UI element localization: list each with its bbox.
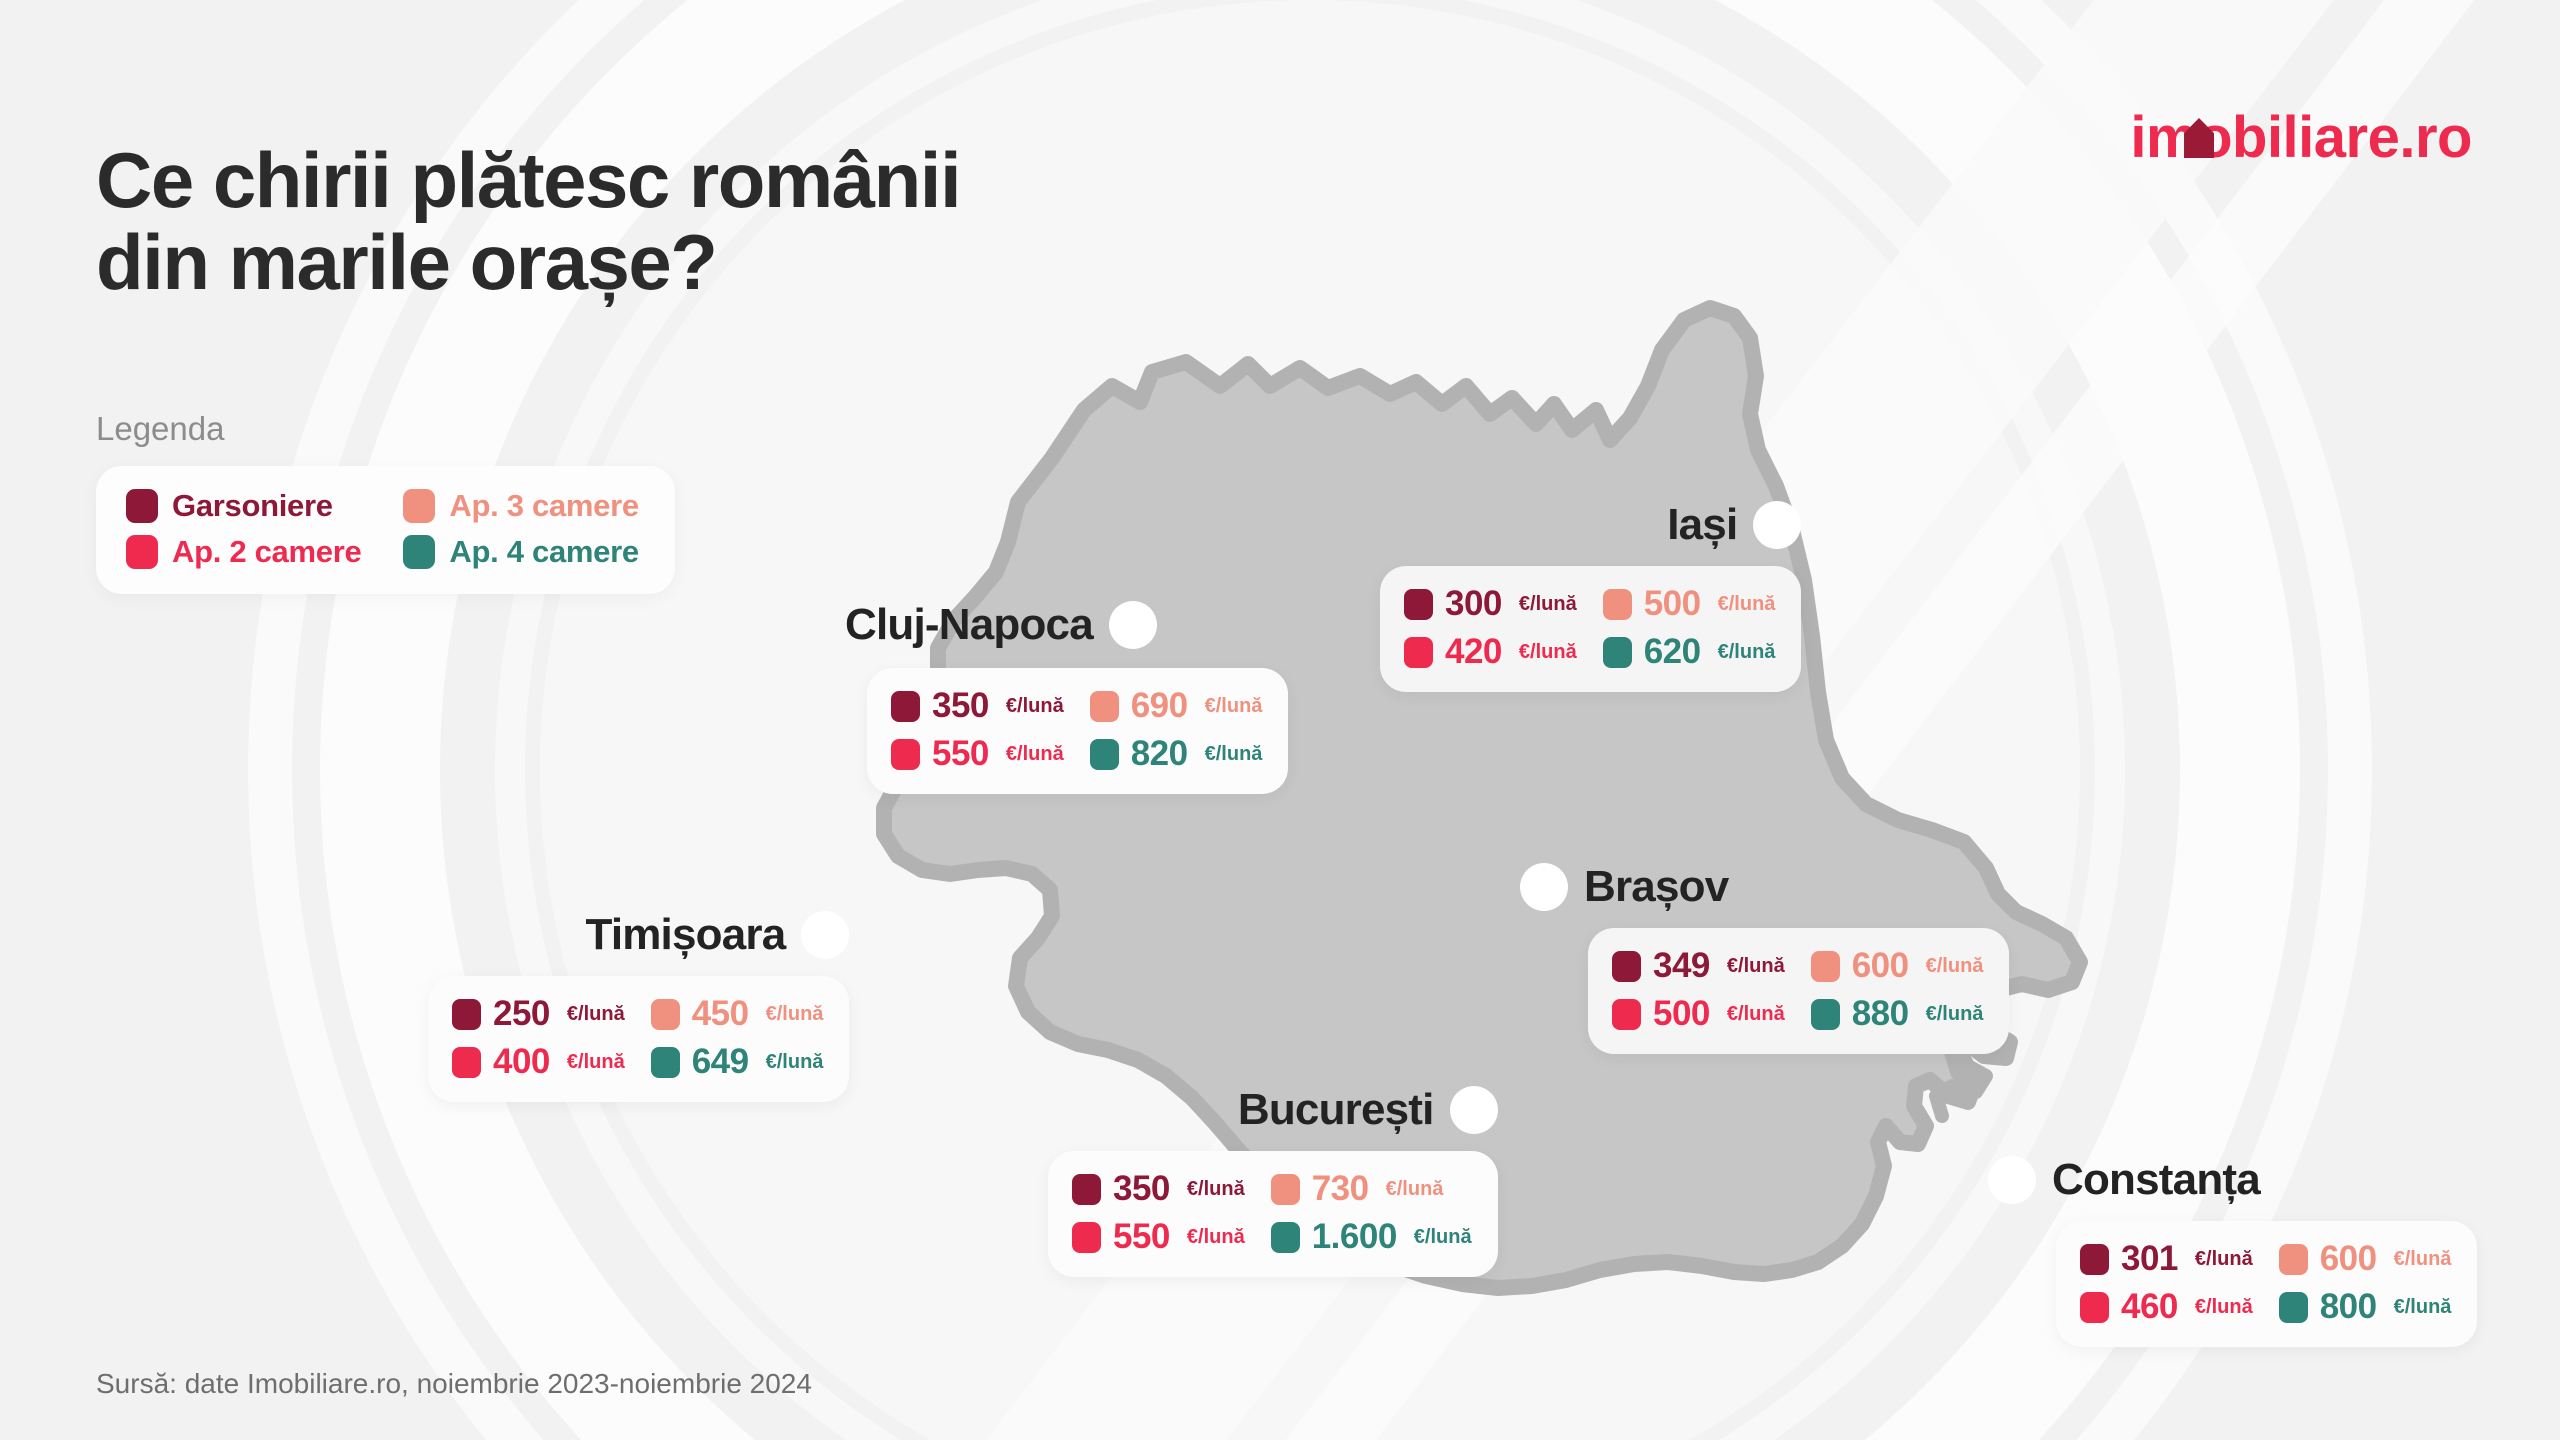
city-name-label: Timișoara: [586, 910, 786, 960]
price-unit: €/lună: [1926, 955, 1984, 978]
price-item-ap-4-camere: 1.600 €/lună: [1271, 1217, 1472, 1257]
price-swatch-icon: [651, 1047, 680, 1078]
price-unit: €/lună: [1718, 641, 1776, 664]
price-item-ap-2-camere: 500 €/lună: [1612, 994, 1785, 1034]
imobiliare-logo[interactable]: imobiliare.ro: [2130, 104, 2472, 171]
price-card: 349 €/lună 600 €/lună 500 €/lună 880 €/l…: [1588, 928, 2009, 1054]
city-header: Cluj-Napoca: [845, 600, 1288, 650]
price-unit: €/lună: [1727, 1003, 1785, 1026]
price-grid: 300 €/lună 500 €/lună 420 €/lună 620 €/l…: [1404, 584, 1775, 672]
city-marker-dot-icon[interactable]: [1753, 501, 1801, 549]
price-swatch-icon: [1811, 951, 1840, 982]
price-item-garsoniere: 349 €/lună: [1612, 946, 1785, 986]
price-item-ap-4-camere: 649 €/lună: [651, 1042, 824, 1082]
price-unit: €/lună: [766, 1003, 824, 1026]
city-marker-dot-icon[interactable]: [1988, 1156, 2036, 1204]
price-swatch-icon: [1811, 999, 1840, 1030]
price-value: 649: [692, 1042, 749, 1082]
price-unit: €/lună: [1205, 743, 1263, 766]
price-value: 600: [2320, 1239, 2377, 1279]
price-value: 349: [1653, 946, 1710, 986]
legend-item-ap-3-camere[interactable]: Ap. 3 camere: [403, 488, 638, 524]
price-value: 450: [692, 994, 749, 1034]
price-grid: 349 €/lună 600 €/lună 500 €/lună 880 €/l…: [1612, 946, 1983, 1034]
price-value: 620: [1644, 632, 1701, 672]
price-value: 350: [932, 686, 989, 726]
page-title: Ce chirii plătesc românii din marile ora…: [96, 140, 960, 304]
city-name-label: Constanța: [2052, 1155, 2260, 1205]
price-value: 400: [493, 1042, 550, 1082]
city-group-brasov[interactable]: Brașov 349 €/lună 600 €/lună 500 €/lună …: [1520, 862, 2009, 1054]
price-grid: 250 €/lună 450 €/lună 400 €/lună 649 €/l…: [452, 994, 823, 1082]
price-value: 500: [1653, 994, 1710, 1034]
price-swatch-icon: [1603, 589, 1632, 620]
price-unit: €/lună: [1414, 1226, 1472, 1249]
price-value: 690: [1131, 686, 1188, 726]
price-swatch-icon: [1404, 589, 1433, 620]
legend-item-label: Garsoniere: [172, 488, 333, 524]
price-swatch-icon: [1090, 691, 1119, 722]
city-group-iasi[interactable]: Iași 300 €/lună 500 €/lună 420 €/lună 62…: [1660, 500, 1801, 692]
price-item-ap-4-camere: 880 €/lună: [1811, 994, 1984, 1034]
legend-item-garsoniere[interactable]: Garsoniere: [126, 488, 361, 524]
price-swatch-icon: [2279, 1292, 2308, 1323]
price-swatch-icon: [1072, 1174, 1101, 1205]
price-value: 420: [1445, 632, 1502, 672]
price-swatch-icon: [452, 999, 481, 1030]
price-swatch-icon: [1072, 1222, 1101, 1253]
legend-swatch-icon: [126, 489, 158, 523]
price-unit: €/lună: [1187, 1226, 1245, 1249]
price-item-ap-3-camere: 450 €/lună: [651, 994, 824, 1034]
price-value: 600: [1852, 946, 1909, 986]
price-value: 300: [1445, 584, 1502, 624]
legend-title: Legenda: [96, 410, 675, 448]
price-swatch-icon: [1612, 951, 1641, 982]
city-marker-dot-icon[interactable]: [1109, 601, 1157, 649]
price-value: 880: [1852, 994, 1909, 1034]
price-value: 460: [2121, 1287, 2178, 1327]
price-item-ap-2-camere: 400 €/lună: [452, 1042, 625, 1082]
price-item-ap-4-camere: 800 €/lună: [2279, 1287, 2452, 1327]
price-swatch-icon: [2279, 1244, 2308, 1275]
city-name-label: Brașov: [1584, 862, 1728, 912]
city-name-label: București: [1238, 1085, 1434, 1135]
price-swatch-icon: [1404, 637, 1433, 668]
price-unit: €/lună: [1006, 743, 1064, 766]
city-marker-dot-icon[interactable]: [1520, 863, 1568, 911]
price-swatch-icon: [1271, 1174, 1300, 1205]
price-value: 550: [1113, 1217, 1170, 1257]
price-card: 350 €/lună 730 €/lună 550 €/lună 1.600 €…: [1048, 1151, 1498, 1277]
legend-swatch-icon: [126, 535, 158, 569]
price-item-garsoniere: 350 €/lună: [1072, 1169, 1245, 1209]
price-unit: €/lună: [1727, 955, 1785, 978]
price-unit: €/lună: [2195, 1248, 2253, 1271]
price-card: 350 €/lună 690 €/lună 550 €/lună 820 €/l…: [867, 668, 1288, 794]
city-name-label: Cluj-Napoca: [845, 600, 1093, 650]
city-header: Timișoara: [548, 910, 849, 960]
price-swatch-icon: [2080, 1244, 2109, 1275]
city-header: București: [1228, 1085, 1498, 1135]
price-card: 301 €/lună 600 €/lună 460 €/lună 800 €/l…: [2056, 1221, 2477, 1347]
price-value: 730: [1312, 1169, 1369, 1209]
legend-grid: Garsoniere Ap. 3 camere Ap. 2 camere Ap.…: [126, 488, 639, 570]
price-item-ap-3-camere: 600 €/lună: [1811, 946, 1984, 986]
legend-item-ap-4-camere[interactable]: Ap. 4 camere: [403, 534, 638, 570]
price-value: 550: [932, 734, 989, 774]
city-group-bucuresti[interactable]: București 350 €/lună 730 €/lună 550 €/lu…: [1228, 1085, 1498, 1277]
price-unit: €/lună: [1205, 695, 1263, 718]
price-unit: €/lună: [2394, 1248, 2452, 1271]
legend-item-label: Ap. 4 camere: [449, 534, 638, 570]
price-item-garsoniere: 250 €/lună: [452, 994, 625, 1034]
price-item-ap-4-camere: 620 €/lună: [1603, 632, 1776, 672]
city-header: Brașov: [1520, 862, 2009, 912]
price-value: 800: [2320, 1287, 2377, 1327]
price-item-ap-3-camere: 690 €/lună: [1090, 686, 1263, 726]
price-unit: €/lună: [567, 1003, 625, 1026]
legend-item-label: Ap. 3 camere: [449, 488, 638, 524]
price-grid: 350 €/lună 690 €/lună 550 €/lună 820 €/l…: [891, 686, 1262, 774]
price-swatch-icon: [891, 739, 920, 770]
price-unit: €/lună: [1519, 641, 1577, 664]
city-header: Iași: [1660, 500, 1801, 550]
price-item-ap-2-camere: 550 €/lună: [1072, 1217, 1245, 1257]
price-unit: €/lună: [2394, 1296, 2452, 1319]
price-unit: €/lună: [1718, 593, 1776, 616]
price-grid: 350 €/lună 730 €/lună 550 €/lună 1.600 €…: [1072, 1169, 1472, 1257]
price-value: 301: [2121, 1239, 2178, 1279]
legend: Legenda Garsoniere Ap. 3 camere Ap. 2 ca…: [96, 410, 675, 594]
city-group-cluj-napoca[interactable]: Cluj-Napoca 350 €/lună 690 €/lună 550 €/…: [845, 600, 1288, 794]
price-swatch-icon: [891, 691, 920, 722]
price-swatch-icon: [452, 1047, 481, 1078]
price-item-ap-2-camere: 460 €/lună: [2080, 1287, 2253, 1327]
price-card: 250 €/lună 450 €/lună 400 €/lună 649 €/l…: [428, 976, 849, 1102]
source-note: Sursă: date Imobiliare.ro, noiembrie 202…: [96, 1368, 812, 1400]
price-item-garsoniere: 300 €/lună: [1404, 584, 1577, 624]
logo-text-prefix: i: [2130, 104, 2146, 171]
price-value: 1.600: [1312, 1217, 1397, 1257]
city-marker-dot-icon[interactable]: [801, 911, 849, 959]
city-group-timisoara[interactable]: Timișoara 250 €/lună 450 €/lună 400 €/lu…: [548, 910, 849, 1102]
price-value: 820: [1131, 734, 1188, 774]
legend-item-ap-2-camere[interactable]: Ap. 2 camere: [126, 534, 361, 570]
price-unit: €/lună: [1926, 1003, 1984, 1026]
legend-item-label: Ap. 2 camere: [172, 534, 361, 570]
price-swatch-icon: [1612, 999, 1641, 1030]
price-swatch-icon: [1090, 739, 1119, 770]
legend-card: Garsoniere Ap. 3 camere Ap. 2 camere Ap.…: [96, 466, 675, 594]
price-unit: €/lună: [567, 1051, 625, 1074]
price-value: 350: [1113, 1169, 1170, 1209]
price-value: 250: [493, 994, 550, 1034]
city-header: Constanța: [1988, 1155, 2477, 1205]
price-swatch-icon: [1603, 637, 1632, 668]
price-unit: €/lună: [1006, 695, 1064, 718]
price-item-ap-3-camere: 600 €/lună: [2279, 1239, 2452, 1279]
price-item-ap-4-camere: 820 €/lună: [1090, 734, 1263, 774]
price-swatch-icon: [2080, 1292, 2109, 1323]
price-item-ap-3-camere: 500 €/lună: [1603, 584, 1776, 624]
price-unit: €/lună: [2195, 1296, 2253, 1319]
price-unit: €/lună: [1519, 593, 1577, 616]
price-item-ap-3-camere: 730 €/lună: [1271, 1169, 1472, 1209]
price-swatch-icon: [651, 999, 680, 1030]
legend-swatch-icon: [403, 489, 435, 523]
legend-swatch-icon: [403, 535, 435, 569]
price-unit: €/lună: [1187, 1178, 1245, 1201]
price-item-garsoniere: 350 €/lună: [891, 686, 1064, 726]
price-item-garsoniere: 301 €/lună: [2080, 1239, 2253, 1279]
price-grid: 301 €/lună 600 €/lună 460 €/lună 800 €/l…: [2080, 1239, 2451, 1327]
price-unit: €/lună: [766, 1051, 824, 1074]
city-group-constanta[interactable]: Constanța 301 €/lună 600 €/lună 460 €/lu…: [1988, 1155, 2477, 1347]
price-unit: €/lună: [1386, 1178, 1444, 1201]
city-name-label: Iași: [1667, 500, 1737, 550]
price-value: 500: [1644, 584, 1701, 624]
price-item-ap-2-camere: 550 €/lună: [891, 734, 1064, 774]
price-swatch-icon: [1271, 1222, 1300, 1253]
city-marker-dot-icon[interactable]: [1450, 1086, 1498, 1134]
price-card: 300 €/lună 500 €/lună 420 €/lună 620 €/l…: [1380, 566, 1801, 692]
price-item-ap-2-camere: 420 €/lună: [1404, 632, 1577, 672]
